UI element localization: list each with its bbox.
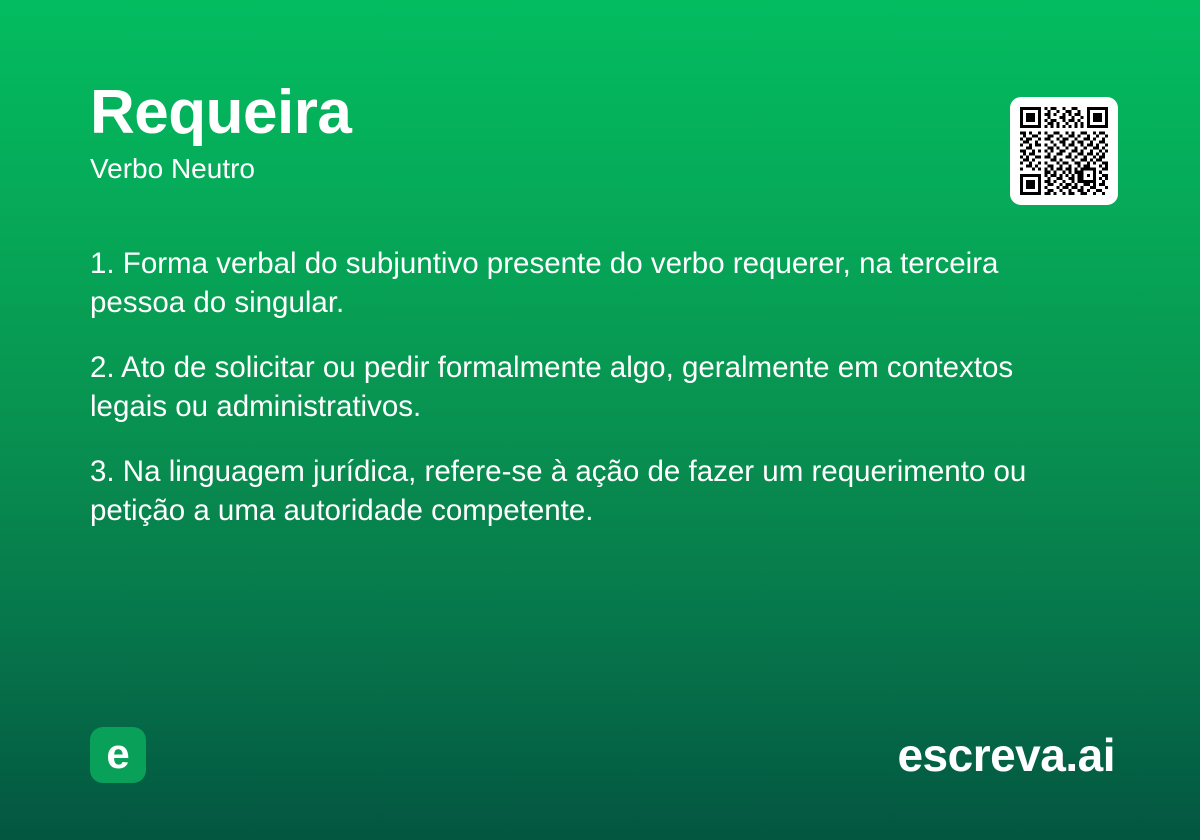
card-footer: e escreva.ai [90, 727, 1115, 783]
definition-item: 2. Ato de solicitar ou pedir formalmente… [90, 348, 1052, 426]
qr-code[interactable] [1010, 97, 1118, 205]
card-header: Requeira Verbo Neutro [90, 82, 950, 185]
brand-logo-letter: e [106, 733, 129, 775]
word-class-label: Verbo Neutro [90, 154, 950, 185]
definition-item: 1. Forma verbal do subjuntivo presente d… [90, 244, 1052, 322]
qr-code-icon [1020, 107, 1108, 195]
word-definition-card: Requeira Verbo Neutro [0, 0, 1200, 840]
definition-item: 3. Na linguagem jurídica, refere-se à aç… [90, 452, 1052, 530]
brand-wordmark: escreva.ai [897, 732, 1115, 778]
brand-logo: e [90, 727, 146, 783]
page-title: Requeira [90, 82, 950, 144]
definition-list: 1. Forma verbal do subjuntivo presente d… [90, 244, 1052, 530]
